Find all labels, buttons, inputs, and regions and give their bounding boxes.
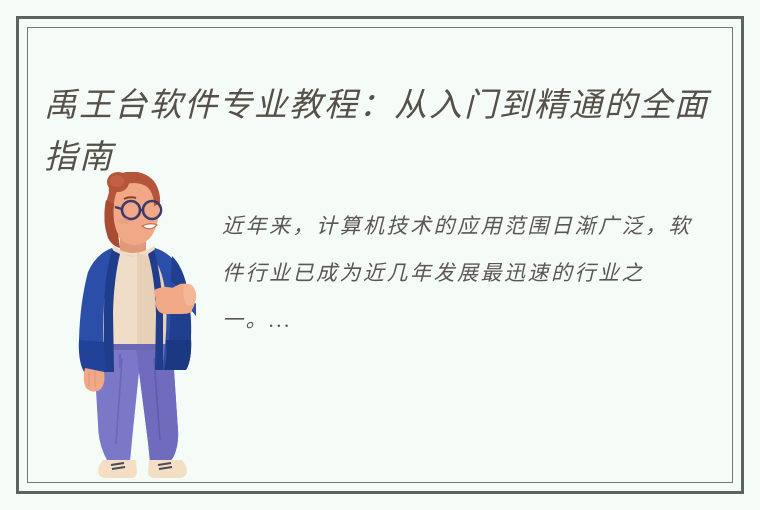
hand-left: [84, 368, 105, 392]
article-excerpt: 近年来，计算机技术的应用范围日渐广泛，软件行业已成为近几年发展最迅速的行业之一。…: [222, 203, 702, 344]
illustration-woman-with-glasses-gesturing: [62, 172, 202, 484]
page-title: 禹王台软件专业教程：从入门到精通的全面指南: [44, 80, 720, 184]
cardigan-cuff-right: [164, 340, 191, 370]
article-card: 禹王台软件专业教程：从入门到精通的全面指南: [0, 0, 760, 510]
cardigan-cuff-left: [79, 340, 107, 370]
hair-bun-highlight: [110, 175, 124, 187]
cheek-blush: [119, 218, 129, 224]
